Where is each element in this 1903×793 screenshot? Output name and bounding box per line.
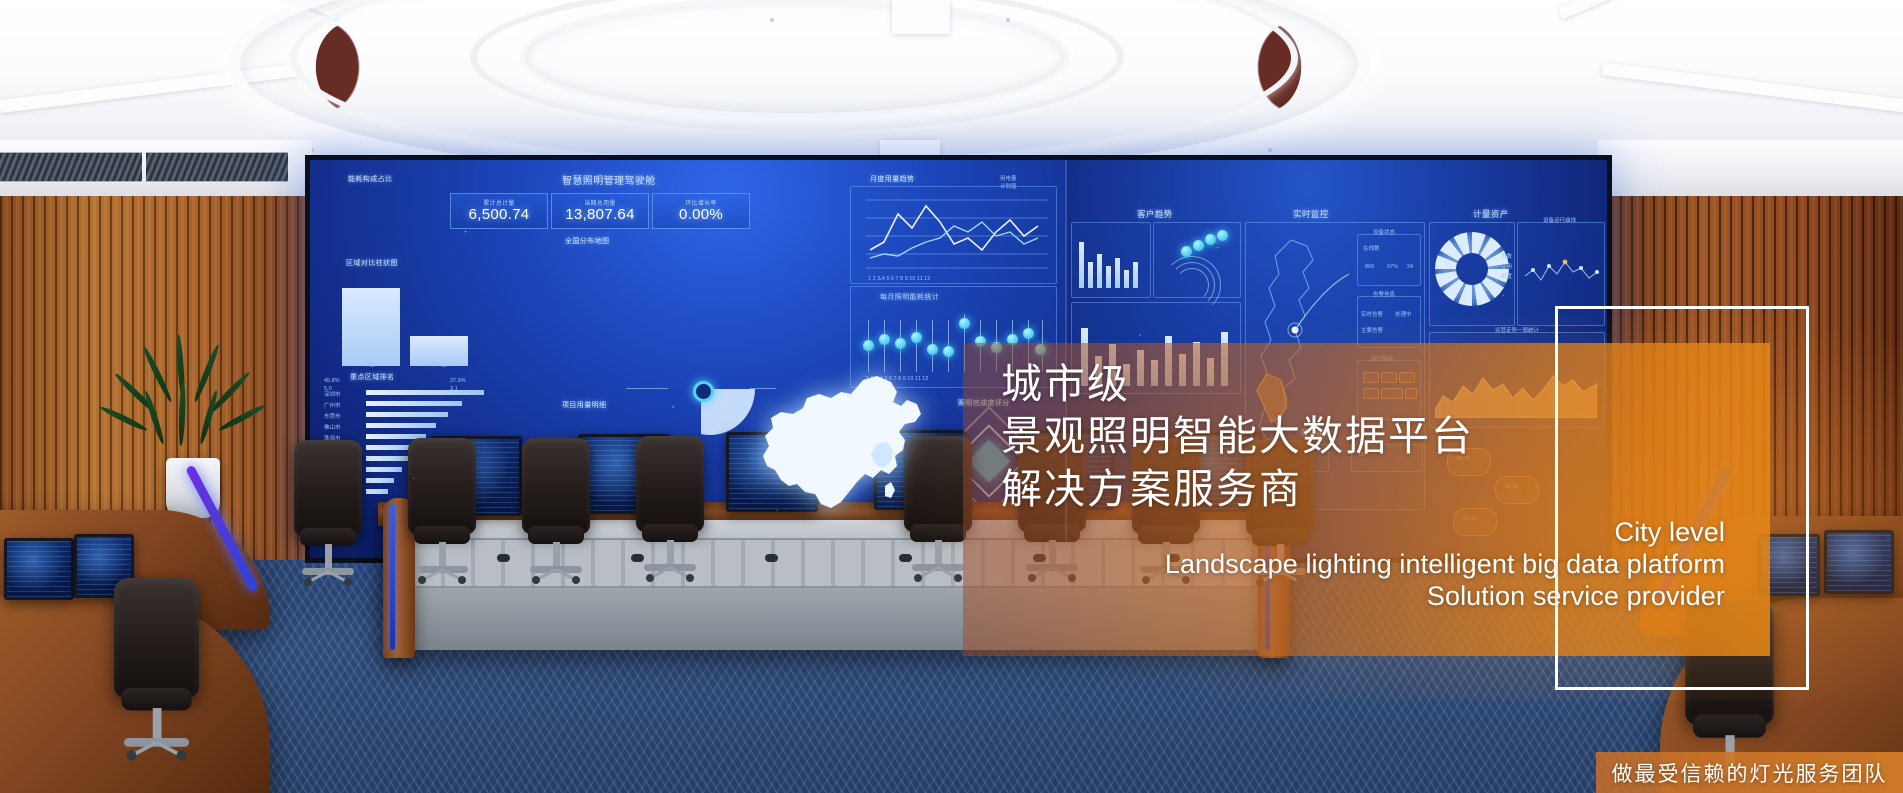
kpi-card: 当期总用量 13,807.64 — [551, 193, 649, 229]
kpi-value: 6,500.74 — [469, 207, 530, 223]
hvac-grille — [0, 152, 142, 182]
subhead-line-1: City level — [963, 517, 1725, 549]
panel-title-project-detail: 项目用量明细 — [562, 400, 606, 410]
kpi-value: 0.00% — [679, 207, 723, 223]
subhead-line-2: Landscape lighting intelligent big data … — [963, 549, 1725, 581]
soffit-left — [0, 140, 312, 202]
hvac-grille — [146, 152, 288, 182]
gauge-leader-line — [626, 388, 668, 389]
kpi-value: 13,807.64 — [565, 207, 634, 223]
status-card-device — [1357, 234, 1421, 286]
radar-point — [1205, 234, 1216, 245]
ceiling-fixture-dot — [1268, 148, 1272, 152]
dashboard-header: 智慧照明管理驾驶舱 — [562, 172, 656, 187]
ceiling-spoke — [892, 0, 950, 34]
headline-line-3: 解决方案服务商 — [963, 463, 1743, 515]
operator-chair — [628, 436, 712, 586]
subhead-line-3: Solution service provider — [963, 581, 1725, 613]
section-title-customer-trend: 客户趋势 — [1137, 208, 1173, 220]
operator-chair — [514, 438, 598, 588]
bar-group — [1077, 238, 1143, 288]
kpi-strip: 累计总计量 6,500.74 当期总用量 13,807.64 环比增长率 0.0… — [450, 193, 750, 229]
ring-chart — [1435, 232, 1509, 306]
panel-title-region-compare: 区域对比柱状图 — [346, 258, 398, 268]
operator-chair — [286, 440, 370, 590]
side-monitor[interactable] — [4, 538, 74, 600]
ceiling-spoke — [1558, 0, 1839, 20]
radar-point — [1181, 246, 1192, 257]
footer-slogan-badge: 做最受信赖的灯光服务团队 — [1596, 752, 1903, 793]
subhead-block: City level Landscape lighting intelligen… — [963, 517, 1743, 612]
screenshot-root: 智慧照明管理驾驶舱 累计总计量 6,500.74 当期总用量 13,807.64… — [0, 0, 1903, 793]
section-title-realtime-monitor: 实时监控 — [1293, 208, 1329, 220]
radar-point — [1193, 240, 1204, 251]
line-chart-svg — [866, 192, 1048, 274]
scatter-line-svg — [1523, 242, 1599, 298]
side-monitor[interactable] — [1824, 530, 1894, 594]
side-chair-left — [104, 578, 209, 766]
footer-slogan-text: 做最受信赖的灯光服务团队 — [1612, 758, 1888, 788]
headline-line-2: 景观照明智能大数据平台 — [963, 410, 1743, 462]
bar-chart-region: 小区 商业区 — [338, 278, 478, 366]
ceiling-fixture-dot — [1006, 18, 1010, 22]
radar-arc — [1175, 268, 1209, 302]
map-title: 全国分布地图 — [565, 236, 609, 246]
panel-title-energy-share: 能耗构成占比 — [348, 174, 392, 184]
soffit-right — [1598, 140, 1903, 202]
hero-text-block: 城市级 景观照明智能大数据平台 解决方案服务商 City level Lands… — [963, 358, 1743, 612]
panel-title-ranking: 重点区域排名 — [350, 372, 394, 382]
headline-line-1: 城市级 — [963, 358, 1743, 410]
radar-point — [1217, 230, 1228, 241]
ceiling-spoke — [1602, 62, 1903, 113]
ceiling-fixture-dot — [770, 18, 774, 22]
panel-title-monthly-trend: 月度用量趋势 — [870, 174, 914, 184]
ceiling-ring-core — [520, 0, 1070, 118]
operator-chair — [400, 438, 484, 588]
kpi-card: 环比增长率 0.00% — [652, 193, 750, 229]
section-title-metering-assets: 计量资产 — [1473, 208, 1509, 220]
kpi-card: 累计总计量 6,500.74 — [450, 193, 548, 229]
china-map — [745, 370, 945, 532]
status-card-alarm — [1357, 296, 1421, 348]
gauge-hub — [693, 381, 714, 402]
